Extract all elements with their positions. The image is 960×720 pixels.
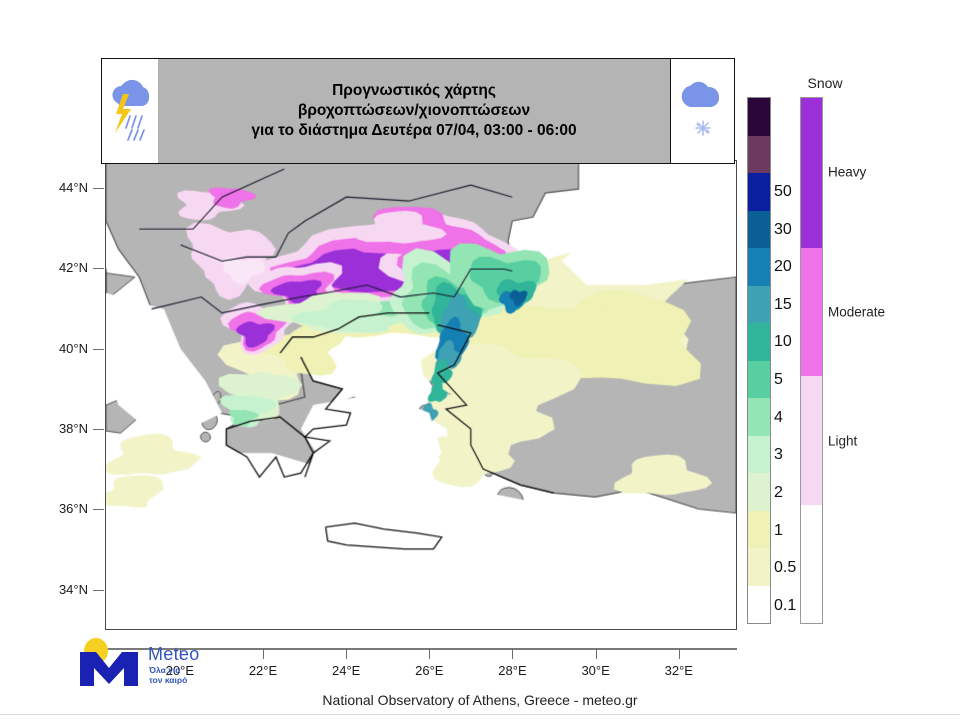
- latitude-tick-label: 38°N: [28, 421, 88, 436]
- colorbar-tick-label: 3: [774, 446, 783, 464]
- logo-tagline-line-1: Όλα για: [149, 665, 187, 675]
- colorbar-segment: [748, 211, 770, 249]
- footer-divider: [0, 714, 960, 715]
- colorbar-segment: [748, 548, 770, 586]
- latitude-tick-label: 36°N: [28, 501, 88, 516]
- latitude-tick-label: 40°N: [28, 341, 88, 356]
- colorbar-segment: [748, 511, 770, 549]
- longitude-tick-label: 24°E: [316, 663, 376, 678]
- longitude-tick-label: 28°E: [482, 663, 542, 678]
- title-line-3: για το διάστημα Δευτέρα 07/04, 03:00 - 0…: [251, 121, 576, 141]
- precipitation-map[interactable]: [105, 160, 737, 630]
- colorbar-segment: [748, 586, 770, 624]
- colorbar-tick-label: 50: [774, 183, 792, 201]
- colorbar-segment: [748, 436, 770, 474]
- longitude-tick-mark: [512, 648, 513, 659]
- colorbar-tick-label: 15: [774, 296, 792, 314]
- title-line-2: βροχοπτώσεων/χιονοπτώσεων: [298, 101, 530, 121]
- colorbar-tick-label: 30: [774, 221, 792, 239]
- colorbar-segment: [748, 248, 770, 286]
- colorbar-tick-label: 5: [774, 371, 783, 389]
- latitude-tick-label: 34°N: [28, 582, 88, 597]
- colorbar-segment: [748, 286, 770, 324]
- latitude-tick-mark: [93, 509, 104, 510]
- logo-tagline: Όλα για τον καιρό: [149, 665, 187, 685]
- snow-colorbar-segment: [801, 505, 822, 623]
- colorbar-tick-label: 2: [774, 484, 783, 502]
- colorbar-segment: [748, 398, 770, 436]
- title-box: Προγνωστικός χάρτης βροχοπτώσεων/χιονοπτ…: [101, 58, 671, 164]
- latitude-tick-mark: [93, 590, 104, 591]
- colorbar-tick-label: 4: [774, 409, 783, 427]
- colorbar-segment: [748, 136, 770, 174]
- colorbar-segment: [748, 323, 770, 361]
- snow-colorbar-segment: [801, 248, 822, 377]
- longitude-tick-label: 26°E: [399, 663, 459, 678]
- logo-wordmark: Meteo: [148, 644, 200, 665]
- map-canvas[interactable]: [106, 161, 736, 629]
- snow-legend-label: Light: [828, 433, 857, 448]
- colorbar-segment: [748, 173, 770, 211]
- thunderstorm-rain-cloud-icon: [102, 59, 158, 163]
- precipitation-colorbar[interactable]: [747, 97, 771, 624]
- latitude-tick-label: 42°N: [28, 260, 88, 275]
- longitude-tick-mark: [263, 648, 264, 659]
- longitude-tick-mark: [596, 648, 597, 659]
- title-text: Προγνωστικός χάρτης βροχοπτώσεων/χιονοπτ…: [158, 59, 670, 163]
- logo-tagline-line-2: τον καιρό: [149, 675, 187, 685]
- longitude-tick-mark: [346, 648, 347, 659]
- longitude-tick-label: 22°E: [233, 663, 293, 678]
- snow-colorbar[interactable]: [800, 97, 823, 624]
- colorbar-tick-label: 20: [774, 258, 792, 276]
- longitude-tick-mark: [679, 648, 680, 659]
- latitude-tick-mark: [93, 429, 104, 430]
- colorbar-segment: [748, 361, 770, 399]
- latitude-tick-mark: [93, 349, 104, 350]
- colorbar-tick-label: 0.1: [774, 597, 796, 615]
- latitude-tick-mark: [93, 188, 104, 189]
- longitude-tick-mark: [429, 648, 430, 659]
- colorbar-segment: [748, 98, 770, 136]
- forecast-figure: 34°N36°N38°N40°N42°N44°N 20°E22°E24°E26°…: [0, 0, 960, 720]
- longitude-tick-label: 32°E: [649, 663, 709, 678]
- latitude-tick-mark: [93, 268, 104, 269]
- colorbar-tick-label: 0.5: [774, 559, 796, 577]
- snow-legend-label: Moderate: [828, 304, 885, 319]
- footer-credit: National Observatory of Athens, Greece -…: [0, 692, 960, 708]
- colorbar-segment: [748, 473, 770, 511]
- snow-legend-label: Heavy: [828, 165, 866, 180]
- snow-colorbar-segment: [801, 98, 822, 248]
- colorbar-tick-label: 10: [774, 333, 792, 351]
- title-line-1: Προγνωστικός χάρτης: [332, 81, 496, 101]
- colorbar-tick-label: 1: [774, 522, 783, 540]
- longitude-tick-label: 30°E: [566, 663, 626, 678]
- latitude-tick-label: 44°N: [28, 180, 88, 195]
- snow-legend-title: Snow: [780, 75, 870, 91]
- snow-colorbar-segment: [801, 376, 822, 505]
- snow-cloud-icon: [671, 58, 735, 164]
